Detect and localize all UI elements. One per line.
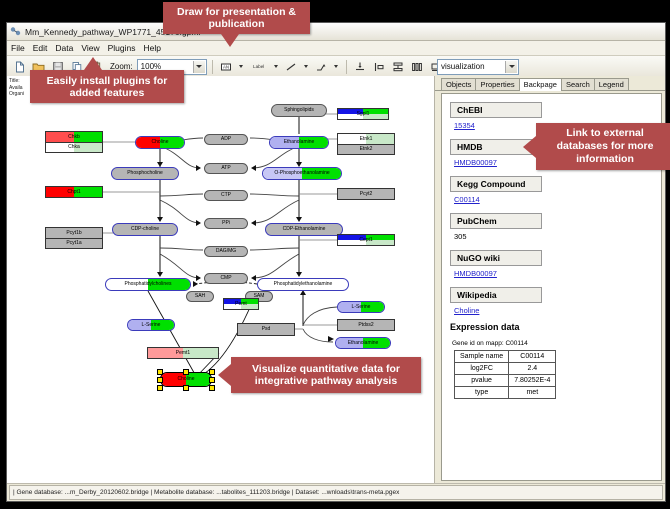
- resize-handle[interactable]: [209, 377, 215, 383]
- chevron-down-icon: [334, 65, 338, 68]
- new-file-icon[interactable]: [11, 58, 28, 75]
- node-label: SAM: [254, 294, 265, 299]
- table-cell-key: pvalue: [455, 375, 509, 387]
- line-dropdown-arrow[interactable]: [302, 58, 311, 75]
- table-row: Sample name C00114: [455, 351, 556, 363]
- db-link[interactable]: HMDB00097: [454, 269, 661, 278]
- node-label: Sgpl1: [357, 112, 370, 117]
- datanode-icon[interactable]: AN: [218, 58, 235, 75]
- menu-edit[interactable]: Edit: [33, 43, 48, 53]
- arrow-connector-icon[interactable]: [313, 58, 330, 75]
- callout-text: Link to external databases for more info…: [541, 127, 669, 166]
- node-label: Phosphatidylethanolamine: [274, 282, 333, 287]
- node-label: Pemt1: [176, 351, 190, 356]
- node-label: Pemt: [235, 302, 247, 307]
- node-label: Choline: [178, 377, 195, 382]
- db-name: NuGO wiki: [450, 250, 542, 266]
- db-value: 305: [454, 232, 661, 241]
- gene-node[interactable]: Etnk1: [337, 133, 395, 144]
- node-label: Ethanolamine: [348, 341, 379, 346]
- node-label: Chpt1: [67, 190, 80, 195]
- node-label: Pcyt2: [360, 192, 373, 197]
- callout-arrow-left-icon: [218, 364, 231, 386]
- table-cell-key: log2FC: [455, 363, 509, 375]
- callout-draw: Draw for presentation & publication: [163, 2, 310, 34]
- node-label: Phosphocholine: [127, 171, 163, 176]
- distribute-horizontal-icon[interactable]: [409, 58, 426, 75]
- visualization-value: visualization: [441, 62, 485, 71]
- node-label: CTP: [221, 193, 231, 198]
- align-left-icon[interactable]: [371, 58, 388, 75]
- table-cell-value: met: [509, 387, 556, 399]
- svg-text:AN: AN: [223, 64, 229, 69]
- node-label: O-Phosphoethanolamine: [274, 171, 329, 176]
- chevron-down-icon: [239, 65, 243, 68]
- resize-handle[interactable]: [157, 369, 163, 375]
- toolbar-separator-2: [346, 60, 347, 74]
- node-label: Ptdss2: [358, 323, 373, 328]
- resize-handle[interactable]: [157, 377, 163, 383]
- node-label: Psd: [262, 327, 271, 332]
- metabolite-node[interactable]: CTP: [204, 190, 248, 201]
- label-icon[interactable]: Label: [248, 58, 270, 75]
- tab-properties[interactable]: Properties: [475, 78, 519, 90]
- chevron-down-icon: [304, 65, 308, 68]
- metabolite-node[interactable]: Phosphatidylcholines: [105, 278, 191, 291]
- gene-node[interactable]: Chpt1: [45, 186, 103, 198]
- node-label: CMP: [220, 276, 231, 281]
- callout-plugins: Easily install plugins for added feature…: [30, 70, 184, 103]
- title-bar: Mm_Kennedy_pathway_WP1771_45176.gpml: [7, 23, 665, 41]
- visualization-combo[interactable]: visualization: [437, 59, 519, 75]
- metabolite-node[interactable]: O-Phosphoethanolamine: [262, 167, 342, 180]
- metabolite-node[interactable]: CMP: [204, 273, 248, 284]
- chevron-down-icon: [196, 65, 202, 68]
- metabolite-node[interactable]: Ethanolamine: [335, 337, 391, 349]
- metabolite-node[interactable]: L-Serine: [337, 301, 385, 313]
- db-section-nugo: NuGO wiki HMDB00097: [450, 248, 661, 278]
- gene-node[interactable]: Ptdss2: [337, 319, 395, 331]
- expression-table: Sample name C00114 log2FC 2.4 pvalue 7.8…: [454, 350, 556, 399]
- menu-bar: File Edit Data View Plugins Help: [7, 41, 665, 56]
- gene-node[interactable]: Sgpl1: [337, 108, 389, 120]
- metabolite-node[interactable]: PPi: [204, 218, 248, 229]
- node-label: DAG/MG: [216, 249, 236, 254]
- menu-view[interactable]: View: [81, 43, 99, 53]
- callout-text: Easily install plugins for added feature…: [36, 75, 178, 99]
- gene-node[interactable]: Etnk2: [337, 144, 395, 155]
- db-link[interactable]: Choline: [454, 306, 661, 315]
- side-panel-tabs: Objects Properties Backpage Search Legen…: [435, 76, 665, 91]
- screenshot-root: Mm_Kennedy_pathway_WP1771_45176.gpml Fil…: [0, 0, 670, 509]
- table-cell-value: C00114: [509, 351, 556, 363]
- db-name: Kegg Compound: [450, 176, 542, 192]
- node-label: CDP-Ethanolamine: [283, 227, 326, 232]
- table-cell-key: type: [455, 387, 509, 399]
- node-label: Pcyt1a: [66, 241, 81, 246]
- label-text: Label: [253, 64, 264, 69]
- metabolite-node[interactable]: L-Serine: [127, 319, 175, 331]
- gene-node[interactable]: Pemt1: [147, 347, 219, 359]
- db-name: Wikipedia: [450, 287, 542, 303]
- node-label: Pcyt1b: [66, 231, 81, 236]
- tab-backpage[interactable]: Backpage: [519, 78, 562, 91]
- metabolite-node[interactable]: Choline: [135, 136, 185, 149]
- metabolite-node[interactable]: DAG/MG: [204, 246, 248, 257]
- label-dropdown-arrow[interactable]: [272, 58, 281, 75]
- tab-objects[interactable]: Objects: [441, 78, 476, 90]
- table-cell-value: 7.80252E-4: [509, 375, 556, 387]
- node-label: ADP: [221, 137, 231, 142]
- gene-node[interactable]: Pemt: [223, 298, 259, 310]
- metabolite-node[interactable]: SAH: [186, 291, 214, 302]
- gene-node[interactable]: Chka: [45, 142, 103, 153]
- gene-node[interactable]: Cept1: [337, 234, 395, 246]
- db-section-kegg: Kegg Compound C00114: [450, 174, 661, 204]
- menu-help[interactable]: Help: [144, 43, 161, 53]
- stack-vertical-icon[interactable]: [390, 58, 407, 75]
- node-label: Phosphatidylcholines: [125, 282, 172, 287]
- resize-handle[interactable]: [183, 369, 189, 375]
- metabolite-node[interactable]: Phosphocholine: [111, 167, 179, 180]
- node-label: ATP: [221, 166, 230, 171]
- node-label: CDP-choline: [131, 227, 159, 232]
- table-row: type met: [455, 387, 556, 399]
- tab-legend[interactable]: Legend: [594, 78, 629, 90]
- gene-node[interactable]: Pcyt2: [337, 188, 395, 200]
- metabolite-node[interactable]: Sphingolipids: [271, 104, 327, 117]
- db-link[interactable]: C00114: [454, 195, 661, 204]
- callout-text: Draw for presentation & publication: [169, 6, 304, 30]
- align-top-icon[interactable]: [352, 58, 369, 75]
- node-label: Choline: [152, 140, 169, 145]
- gene-node[interactable]: Pcyt1b: [45, 227, 103, 238]
- gene-node[interactable]: Psd: [237, 323, 295, 336]
- resize-handle[interactable]: [209, 385, 215, 391]
- node-label: L-Serine: [142, 323, 161, 328]
- status-bar: | Gene database: ...m_Derby_20120602.bri…: [7, 483, 665, 501]
- callout-arrow-up-icon: [84, 57, 102, 70]
- node-label: Chka: [68, 145, 80, 150]
- gene-node[interactable]: Pcyt1a: [45, 238, 103, 249]
- chevron-down-icon: [274, 65, 278, 68]
- datanode-dropdown-arrow[interactable]: [237, 58, 246, 75]
- node-label: Etnk1: [360, 137, 373, 142]
- db-name: ChEBI: [450, 102, 542, 118]
- node-label: Sphingolipids: [284, 108, 314, 113]
- table-row: log2FC 2.4: [455, 363, 556, 375]
- node-label: Ethanolamine: [284, 140, 315, 145]
- pathvisio-icon: [10, 26, 21, 37]
- callout-links: Link to external databases for more info…: [536, 123, 670, 170]
- callout-arrow-down-icon: [221, 34, 239, 47]
- table-cell-key: Sample name: [455, 351, 509, 363]
- status-text: | Gene database: ...m_Derby_20120602.bri…: [9, 485, 663, 500]
- db-section-wikipedia: Wikipedia Choline: [450, 285, 661, 315]
- node-label: L-Serine: [352, 305, 371, 310]
- table-row: pvalue 7.80252E-4: [455, 375, 556, 387]
- resize-handle[interactable]: [157, 385, 163, 391]
- line-icon[interactable]: [283, 58, 300, 75]
- node-label: Chkb: [68, 135, 80, 140]
- tab-search[interactable]: Search: [561, 78, 595, 90]
- resize-handle[interactable]: [183, 385, 189, 391]
- metabolite-node[interactable]: Phosphatidylethanolamine: [257, 278, 349, 291]
- pathway-canvas[interactable]: Title: Availa Organi: [7, 76, 435, 483]
- callout-arrow-left-icon: [523, 136, 536, 158]
- connector-dropdown-arrow[interactable]: [332, 58, 341, 75]
- metabolite-node[interactable]: ADP: [204, 134, 248, 145]
- metabolite-node[interactable]: ATP: [204, 163, 248, 174]
- node-label: SAH: [195, 294, 205, 299]
- menu-file[interactable]: File: [11, 43, 25, 53]
- db-name: PubChem: [450, 213, 542, 229]
- metabolite-node[interactable]: CDP-choline: [112, 223, 178, 236]
- callout-text: Visualize quantitative data for integrat…: [236, 363, 416, 387]
- callout-visualize: Visualize quantitative data for integrat…: [231, 357, 421, 393]
- metabolite-node[interactable]: CDP-Ethanolamine: [265, 223, 343, 236]
- node-label: Etnk2: [360, 147, 373, 152]
- gene-id-label: Gene id on mapp: C00114: [452, 340, 661, 347]
- toolbar-separator: [212, 60, 213, 74]
- metabolite-node[interactable]: Ethanolamine: [269, 136, 329, 149]
- db-section-pubchem: PubChem 305: [450, 211, 661, 241]
- chevron-down-icon: [509, 65, 515, 68]
- zoom-combo-arrow[interactable]: [193, 61, 205, 73]
- menu-data[interactable]: Data: [55, 43, 73, 53]
- resize-handle[interactable]: [209, 369, 215, 375]
- expression-data-heading: Expression data: [450, 322, 661, 332]
- table-cell-value: 2.4: [509, 363, 556, 375]
- visualization-combo-arrow[interactable]: [505, 61, 517, 73]
- gene-node[interactable]: Chkb: [45, 131, 103, 142]
- node-label: PPi: [222, 221, 230, 226]
- node-label: Cept1: [359, 238, 372, 243]
- menu-plugins[interactable]: Plugins: [108, 43, 136, 53]
